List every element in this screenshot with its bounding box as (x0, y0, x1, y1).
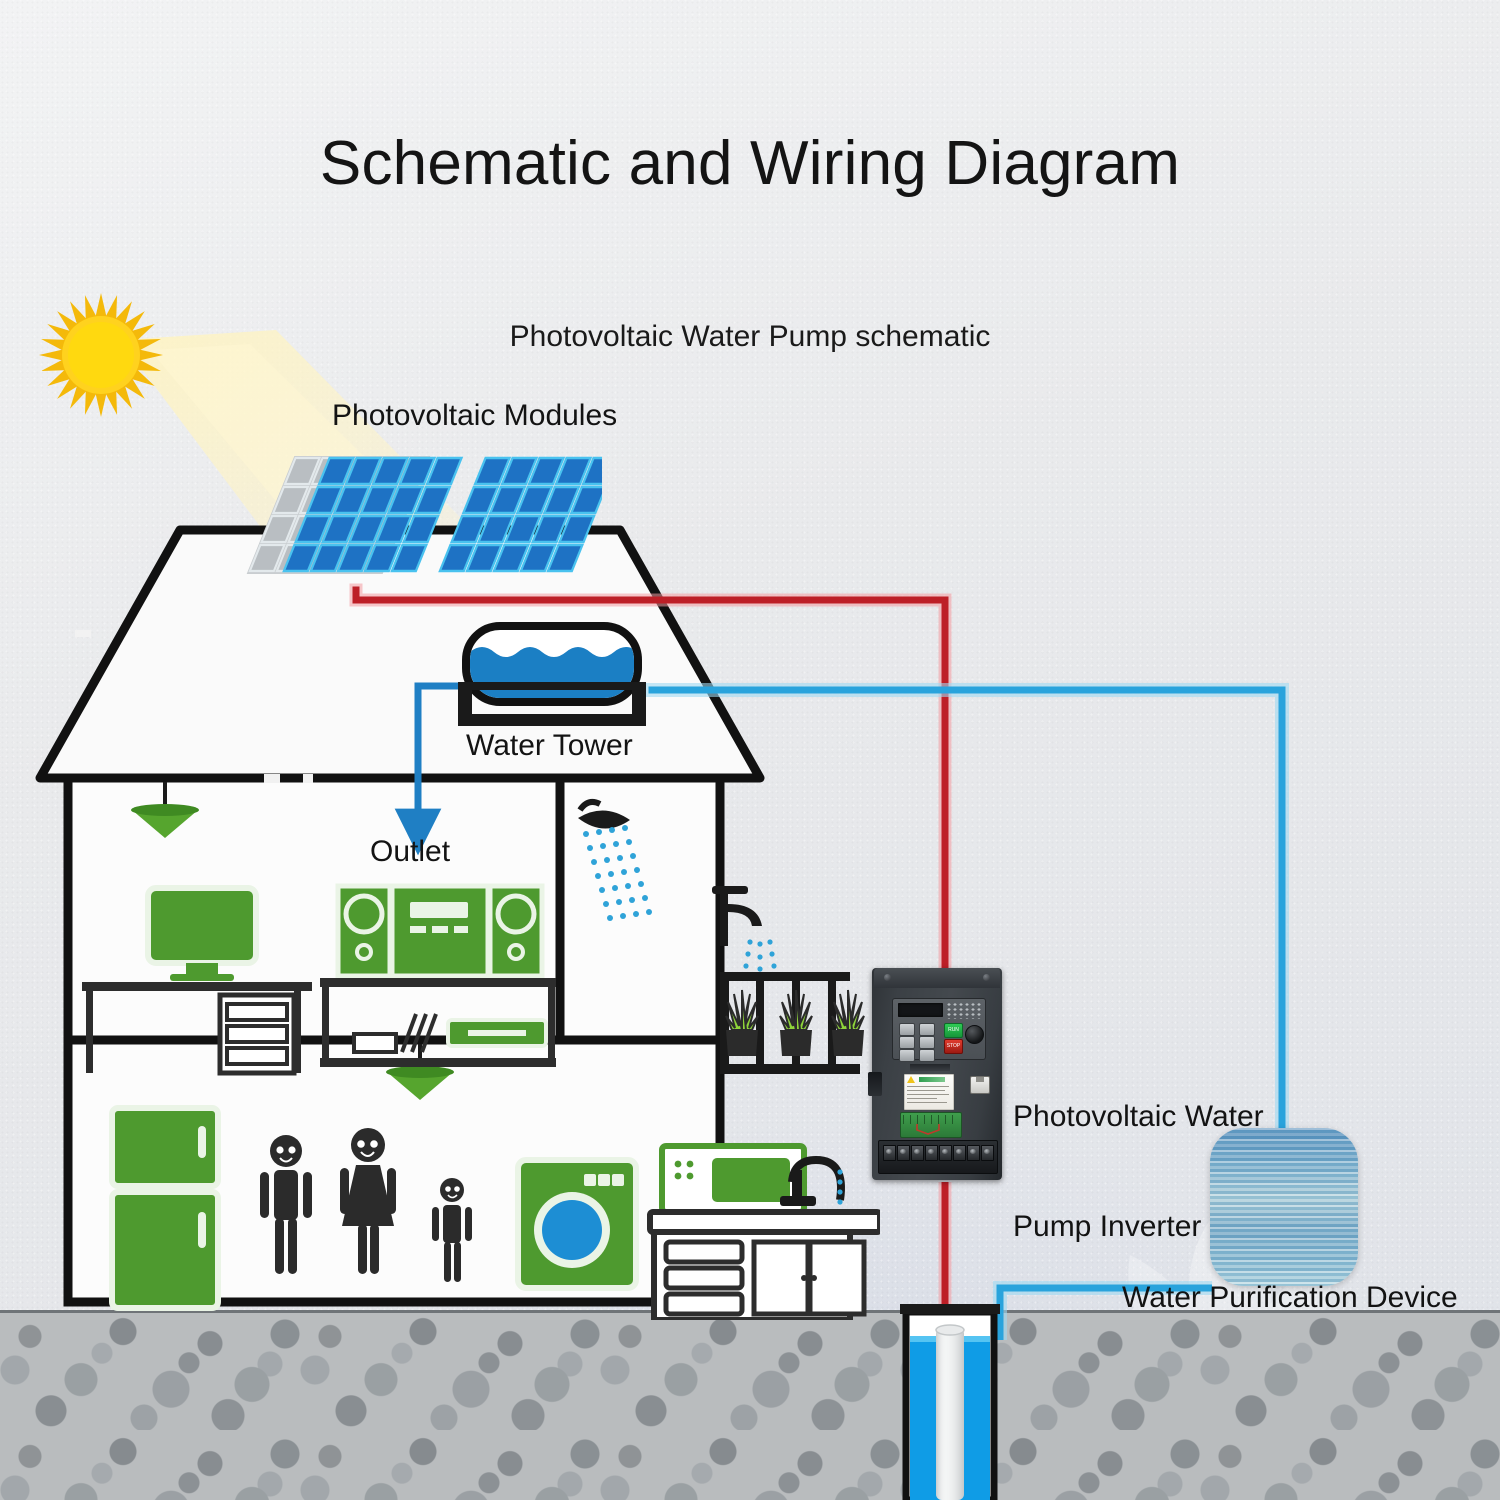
shift-button[interactable] (919, 1023, 935, 1036)
warning-triangle-icon (907, 1076, 915, 1083)
down-button[interactable] (919, 1049, 935, 1062)
sun-icon (36, 290, 166, 420)
potentiometer-knob[interactable] (965, 1025, 984, 1044)
stop-button[interactable]: STOP (944, 1039, 963, 1054)
inverter-display (898, 1003, 943, 1017)
schematic-diagram-canvas: RUN STOP (0, 0, 1500, 1500)
up-button[interactable] (919, 1036, 935, 1049)
run-button[interactable]: RUN (944, 1023, 963, 1038)
enter-button[interactable] (899, 1049, 915, 1062)
program-button[interactable] (899, 1036, 915, 1049)
water-tower (452, 620, 652, 730)
inverter-top-bracket (874, 968, 1000, 988)
label-green-bar (919, 1077, 945, 1082)
inverter-brand-strip (910, 1064, 950, 1071)
side-connector (868, 1072, 882, 1096)
label-water-tower: Water Tower (466, 728, 633, 765)
pv-water-pump-inverter[interactable]: RUN STOP (872, 968, 1002, 1180)
rj45-port[interactable] (970, 1076, 990, 1094)
inverter-screw (983, 974, 990, 981)
inverter-keypad[interactable]: RUN STOP (892, 998, 986, 1060)
run-button-label: RUN (945, 1024, 962, 1037)
label-outlet: Outlet (370, 834, 450, 871)
power-terminal-strip[interactable] (878, 1140, 998, 1174)
label-inverter-line2: Pump Inverter (1013, 1209, 1264, 1246)
control-terminal-block[interactable] (900, 1112, 962, 1138)
label-water-purification-device: Water Purification Device (1122, 1280, 1458, 1317)
submersible-pump-well (900, 1300, 1000, 1500)
label-photovoltaic-modules: Photovoltaic Modules (332, 398, 617, 435)
stop-button-label: STOP (945, 1040, 962, 1053)
warning-label (904, 1074, 954, 1110)
page-title: Schematic and Wiring Diagram (0, 128, 1500, 199)
wire-loop-indicator (915, 1123, 941, 1135)
label-pv-water-pump-inverter: Photovoltaic Water Pump Inverter (1013, 1026, 1264, 1319)
indicator-leds (946, 1002, 981, 1019)
inverter-screw (884, 974, 891, 981)
label-inverter-line1: Photovoltaic Water (1013, 1099, 1264, 1136)
page-subtitle: Photovoltaic Water Pump schematic (0, 320, 1500, 354)
menu-button[interactable] (899, 1023, 915, 1036)
